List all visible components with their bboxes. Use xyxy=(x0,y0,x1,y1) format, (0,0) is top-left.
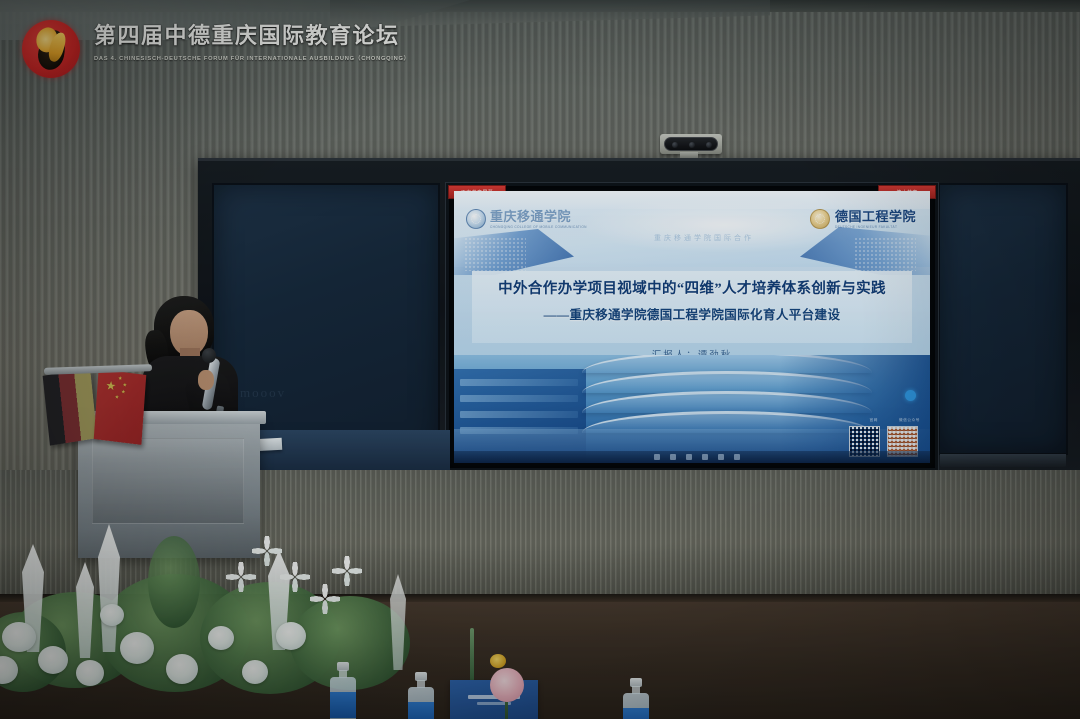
china-star-main: ★ xyxy=(105,379,117,392)
camera-lens-right xyxy=(706,142,712,148)
taskbar-icon-6[interactable] xyxy=(734,454,740,460)
slide-logo-right-en: DEUTSCHE INGENIEUR FAKULTÄT xyxy=(835,225,916,229)
bloom-7 xyxy=(276,622,306,650)
slide-main-title: 中外合作办学项目视域中的“四维”人才培养体系创新与实践 xyxy=(472,279,912,300)
conference-photo-scene: 第四届中德重庆国际教育论坛 DAS 4. CHINESISCH-DEUTSCHE… xyxy=(0,0,1080,719)
slide-logo-left-cn: 重庆移通学院 xyxy=(490,210,587,223)
wechat-icon[interactable] xyxy=(905,390,916,401)
ceiling-camera-bar-icon xyxy=(664,137,718,151)
slide-taskbar[interactable] xyxy=(454,451,930,463)
slide-header-band: 重庆移通学院 CHONGQING COLLEGE OF MOBILE COMMU… xyxy=(454,191,930,267)
slide-title-block: 中外合作办学项目视域中的“四维”人才培养体系创新与实践 ——重庆移通学院德国工程… xyxy=(472,271,912,343)
forum-title-cn: 第四届中德重庆国际教育论坛 xyxy=(94,18,424,50)
lily-2 xyxy=(280,562,310,592)
taskbar-icon-3[interactable] xyxy=(686,454,692,460)
bloom-1 xyxy=(2,622,36,652)
yellow-bloom xyxy=(490,654,506,668)
camera-lens-center xyxy=(689,142,695,148)
bloom-3 xyxy=(76,660,104,686)
slide-watermark: 重庆移通学院国际合作 xyxy=(619,233,789,243)
lily-1 xyxy=(252,536,282,566)
lily-3 xyxy=(226,562,256,592)
lily-5 xyxy=(332,556,362,586)
water-bottle-2[interactable] xyxy=(408,672,434,719)
building-slab-1 xyxy=(460,379,578,386)
forum-flame-logo-icon xyxy=(22,20,84,78)
bloom-5 xyxy=(166,654,198,684)
white-floral-arrangement xyxy=(0,500,450,719)
mobile-college-seal-icon xyxy=(466,209,486,229)
right-panel-tray xyxy=(940,454,1066,467)
main-projection-screen[interactable]: 正在共享屏幕 会议 停止共享 批注 重庆移通学院 CHONGQING xyxy=(446,183,938,471)
qr-label-website: 官网 xyxy=(870,418,878,423)
water-bottle-3[interactable] xyxy=(623,678,649,719)
china-star-4: ★ xyxy=(114,395,119,401)
slide-dotgrid-left xyxy=(464,237,526,271)
campus-building-photo: 官网 微信公众号 xyxy=(454,355,930,463)
germany-flag-icon xyxy=(43,368,98,445)
china-flag-icon: ★ ★ ★ ★ ★ xyxy=(94,369,147,445)
camera-lens-left xyxy=(672,142,678,148)
presentation-slide: 重庆移通学院 CHONGQING COLLEGE OF MOBILE COMMU… xyxy=(454,191,930,463)
water-bottle-1[interactable] xyxy=(330,662,356,719)
bloom-2 xyxy=(38,646,68,674)
stage-desk xyxy=(250,430,450,470)
bloom-10 xyxy=(100,604,124,626)
slide-logo-left: 重庆移通学院 CHONGQING COLLEGE OF MOBILE COMMU… xyxy=(466,209,587,229)
taskbar-icon-2[interactable] xyxy=(670,454,676,460)
forum-banner: 第四届中德重庆国际教育论坛 DAS 4. CHINESISCH-DEUTSCHE… xyxy=(22,18,422,80)
taskbar-icon-5[interactable] xyxy=(718,454,724,460)
china-star-3: ★ xyxy=(121,390,126,396)
bottle-label-2 xyxy=(408,702,434,719)
taskbar-icon-4[interactable] xyxy=(702,454,708,460)
forum-banner-text: 第四届中德重庆国际教育论坛 DAS 4. CHINESISCH-DEUTSCHE… xyxy=(94,18,424,62)
german-college-seal-icon xyxy=(810,209,830,229)
speaker-hand xyxy=(198,370,214,390)
bottle-label-3 xyxy=(623,708,649,719)
bloom-4 xyxy=(120,632,154,664)
taskbar-icon-1[interactable] xyxy=(654,454,660,460)
bloom-6 xyxy=(208,626,234,650)
building-slab-3 xyxy=(460,411,578,418)
right-display-panel xyxy=(938,183,1068,455)
pink-rose xyxy=(490,668,524,702)
slide-logo-left-en: CHONGQING COLLEGE OF MOBILE COMMUNICATIO… xyxy=(490,225,587,229)
bloom-8 xyxy=(242,660,268,684)
china-star-2: ★ xyxy=(122,383,127,389)
foliage-tall xyxy=(148,536,200,628)
lily-4 xyxy=(310,584,340,614)
building-slab-2 xyxy=(460,395,578,402)
slide-logo-right-cn: 德国工程学院 xyxy=(835,210,916,223)
forum-title-de: DAS 4. CHINESISCH-DEUTSCHE FORUM FÜR INT… xyxy=(94,54,431,62)
qr-label-wechat: 微信公众号 xyxy=(899,418,920,423)
slide-logo-right: 德国工程学院 DEUTSCHE INGENIEUR FAKULTÄT xyxy=(810,209,916,229)
slide-dotgrid-right xyxy=(854,237,916,271)
desk-flags: ★ ★ ★ ★ ★ xyxy=(44,366,152,458)
bottle-label-1 xyxy=(330,692,356,718)
slide-sub-title: ——重庆移通学院德国工程学院国际化育人平台建设 xyxy=(472,304,912,323)
